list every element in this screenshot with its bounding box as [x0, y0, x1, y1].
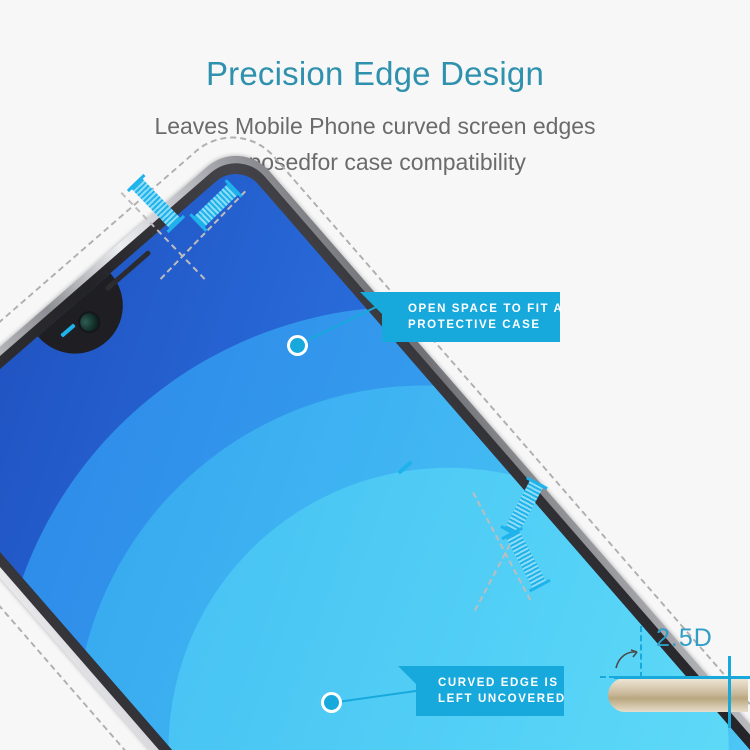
- marker-dot-open-space: [290, 338, 305, 353]
- callout-open-space-line-1: OPEN SPACE TO FIT A: [408, 301, 546, 317]
- curve-arrow-icon: [614, 648, 640, 670]
- edge-thickness-label: 2.5D: [656, 624, 713, 653]
- front-camera-icon: [77, 309, 102, 334]
- tempered-glass-cross-section: [608, 678, 748, 712]
- callout-curved-edge-line-1: CURVED EDGE IS: [438, 675, 550, 691]
- callout-open-space: OPEN SPACE TO FIT A PROTECTIVE CASE: [382, 292, 560, 342]
- diagram-dashed-vertical: [640, 626, 642, 678]
- marker-dot-curved-edge: [324, 695, 339, 710]
- callout-curved-edge-line-2: LEFT UNCOVERED: [438, 691, 550, 707]
- callout-open-space-line-2: PROTECTIVE CASE: [408, 317, 546, 333]
- diagram-endline: [728, 656, 731, 728]
- callout-curved-edge: CURVED EDGE IS LEFT UNCOVERED: [416, 666, 564, 716]
- product-feature-graphic: Precision Edge Design Leaves Mobile Phon…: [0, 0, 750, 750]
- edge-profile-diagram: 2.5D: [600, 612, 750, 750]
